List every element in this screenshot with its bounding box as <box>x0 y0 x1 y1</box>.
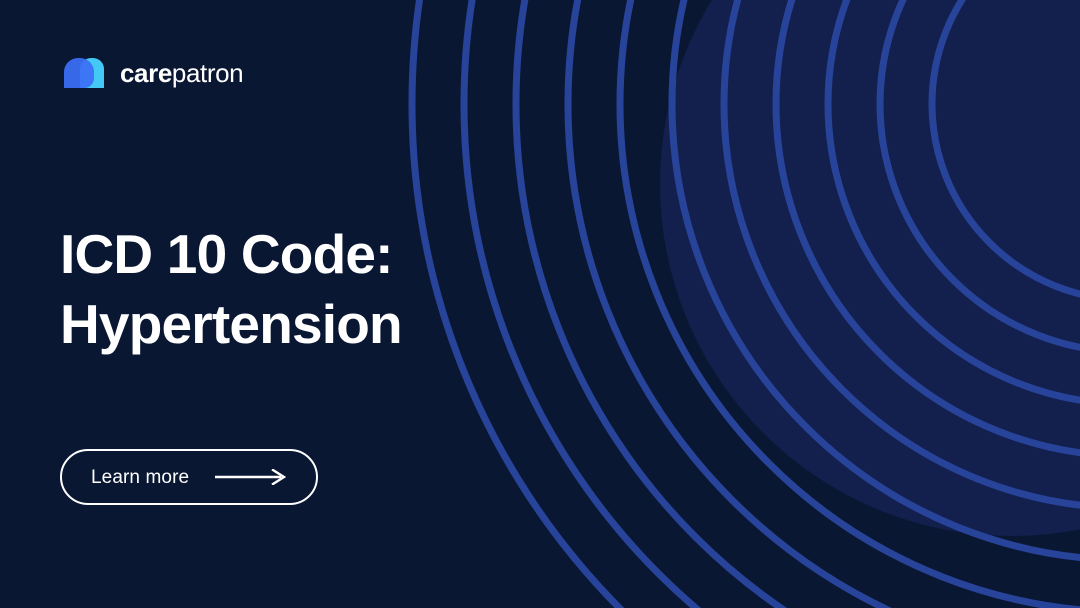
brand-wordmark: carepatron <box>120 60 243 86</box>
brand-name-light: patron <box>172 58 243 88</box>
learn-more-button[interactable]: Learn more <box>60 449 318 505</box>
learn-more-label: Learn more <box>91 468 189 487</box>
promo-banner: carepatron ICD 10 Code: Hypertension Lea… <box>0 0 1080 608</box>
background-circle <box>660 0 1080 536</box>
page-title: ICD 10 Code: Hypertension <box>60 219 620 360</box>
brand-name-bold: care <box>120 58 172 88</box>
arrow-right-icon <box>215 469 287 485</box>
page-title-line-2: Hypertension <box>60 289 620 359</box>
page-title-line-1: ICD 10 Code: <box>60 219 620 289</box>
carepatron-logo-mark <box>60 52 108 94</box>
brand-logo[interactable]: carepatron <box>60 52 243 94</box>
